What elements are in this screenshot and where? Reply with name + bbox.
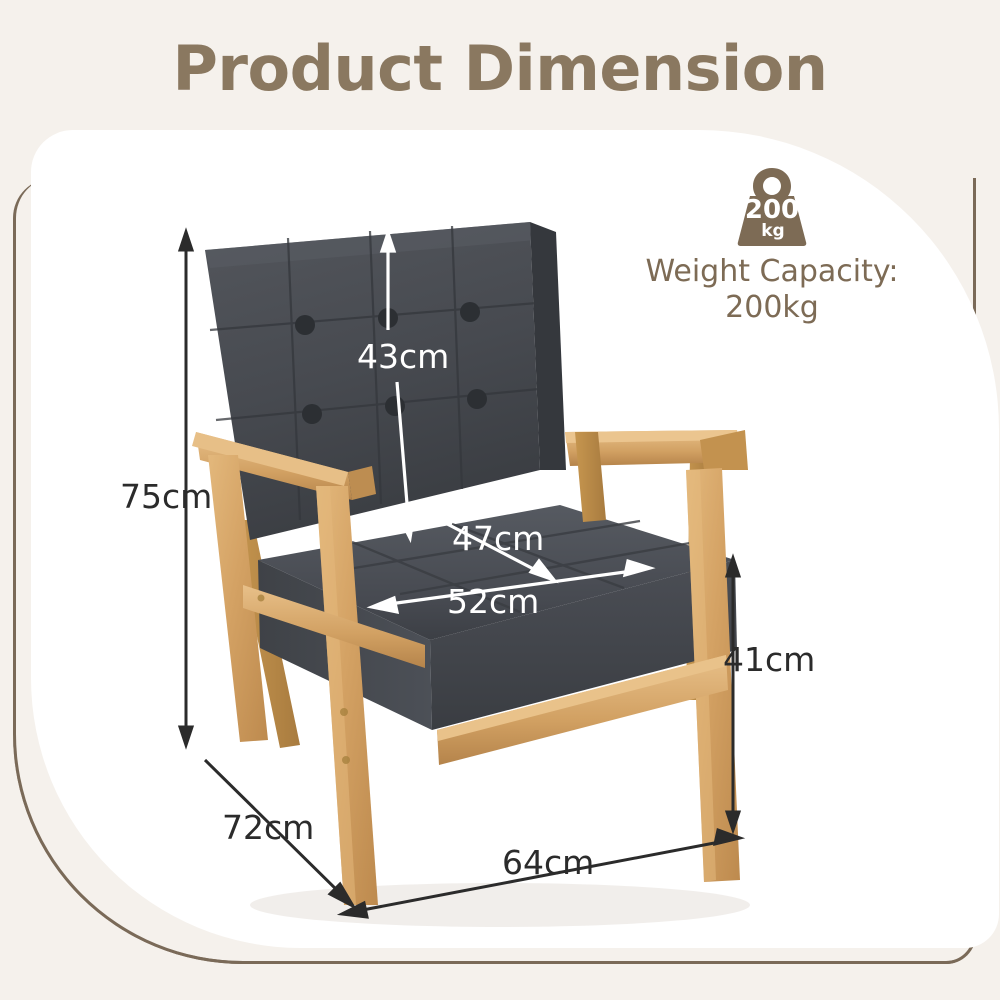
weight-kettlebell-icon: 200 kg <box>730 166 814 246</box>
infographic-stage: Product Dimension <box>0 0 1000 1000</box>
weight-capacity-line2: 200kg <box>632 290 912 326</box>
dimension-label-seat-depth: 47cm <box>452 519 544 558</box>
weight-capacity-block: 200 kg Weight Capacity: 200kg <box>632 166 912 326</box>
dimension-label-width: 64cm <box>502 843 594 882</box>
dimension-label-depth: 72cm <box>222 808 314 847</box>
dimension-label-seat-width: 52cm <box>447 582 539 621</box>
dimension-label-seat-height: 41cm <box>723 640 815 679</box>
weight-badge-unit: kg <box>761 221 784 241</box>
weight-capacity-caption: Weight Capacity: 200kg <box>632 254 912 326</box>
dimension-label-backrest: 43cm <box>357 337 449 376</box>
dimension-label-height: 75cm <box>120 477 212 516</box>
weight-capacity-line1: Weight Capacity: <box>632 254 912 290</box>
